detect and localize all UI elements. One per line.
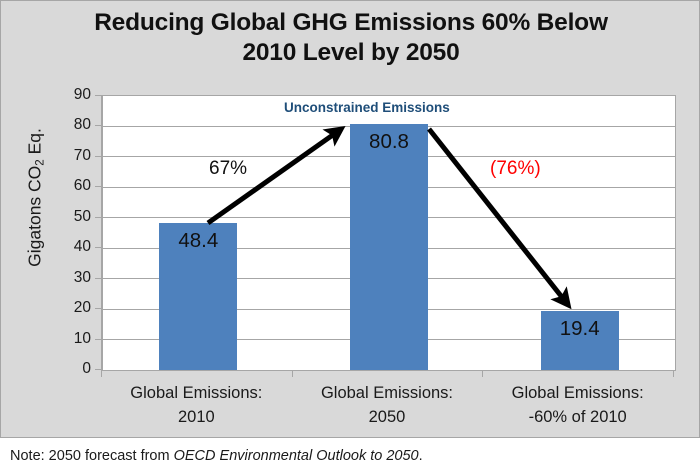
- x-axis-category-label: Global Emissions:-60% of 2010: [482, 381, 673, 429]
- y-axis-title-main: Gigatons CO: [25, 166, 45, 267]
- y-axis-tick-label: 50: [45, 209, 91, 225]
- y-axis-title-tail: Eq.: [25, 128, 45, 159]
- y-axis-tick-label: 60: [45, 178, 91, 194]
- category-label-line-2: 2050: [292, 405, 483, 429]
- y-axis-tick-label: 20: [45, 300, 91, 316]
- x-axis-tick-mark: [101, 370, 102, 377]
- footnote: Note: 2050 forecast from OECD Environmen…: [10, 448, 423, 464]
- chart-title-line-2: 2010 Level by 2050: [1, 38, 700, 68]
- category-label-line-1: Global Emissions:: [130, 384, 262, 402]
- chart-card: Reducing Global GHG Emissions 60% Below …: [0, 0, 700, 438]
- series-label-unconstrained-emissions: Unconstrained Emissions: [284, 100, 450, 115]
- x-axis-tick-mark: [292, 370, 293, 377]
- y-axis-tick-label: 90: [45, 87, 91, 103]
- y-axis-title: Gigatons CO2 Eq.: [25, 98, 46, 298]
- y-axis-tick-label: 80: [45, 117, 91, 133]
- x-axis-category-label: Global Emissions:2050: [292, 381, 483, 429]
- category-label-line-2: -60% of 2010: [482, 405, 673, 429]
- category-label-line-2: 2010: [101, 405, 292, 429]
- bar[interactable]: 19.4: [541, 311, 619, 370]
- category-label-line-1: Global Emissions:: [512, 384, 644, 402]
- y-axis-tick-label: 30: [45, 270, 91, 286]
- x-axis-tick-mark: [482, 370, 483, 377]
- bar[interactable]: 48.4: [159, 223, 237, 370]
- bar-value-label: 80.8: [350, 132, 428, 153]
- y-axis-tick-label: 40: [45, 239, 91, 255]
- bar-value-label: 48.4: [159, 231, 237, 252]
- x-axis-tick-mark: [673, 370, 674, 377]
- y-axis-tick-label: 0: [45, 361, 91, 377]
- footnote-source-title: OECD Environmental Outlook to 2050: [174, 448, 419, 464]
- category-label-line-1: Global Emissions:: [321, 384, 453, 402]
- bar-value-label: 19.4: [541, 319, 619, 340]
- bar[interactable]: 80.8: [350, 124, 428, 370]
- annotation-reduction-percent: (76%): [490, 158, 541, 180]
- annotation-growth-percent: 67%: [209, 158, 247, 180]
- x-axis-category-label: Global Emissions:2010: [101, 381, 292, 429]
- footnote-suffix: .: [419, 448, 423, 464]
- y-axis-tick-label: 10: [45, 331, 91, 347]
- chart-title-line-1: Reducing Global GHG Emissions 60% Below: [1, 8, 700, 38]
- chart-title: Reducing Global GHG Emissions 60% Below …: [1, 8, 700, 68]
- plot-area: 48.480.819.4: [101, 95, 676, 371]
- chart-screenshot: Reducing Global GHG Emissions 60% Below …: [0, 0, 700, 474]
- y-axis-tick-label: 70: [45, 148, 91, 164]
- footnote-prefix: Note: 2050 forecast from: [10, 448, 174, 464]
